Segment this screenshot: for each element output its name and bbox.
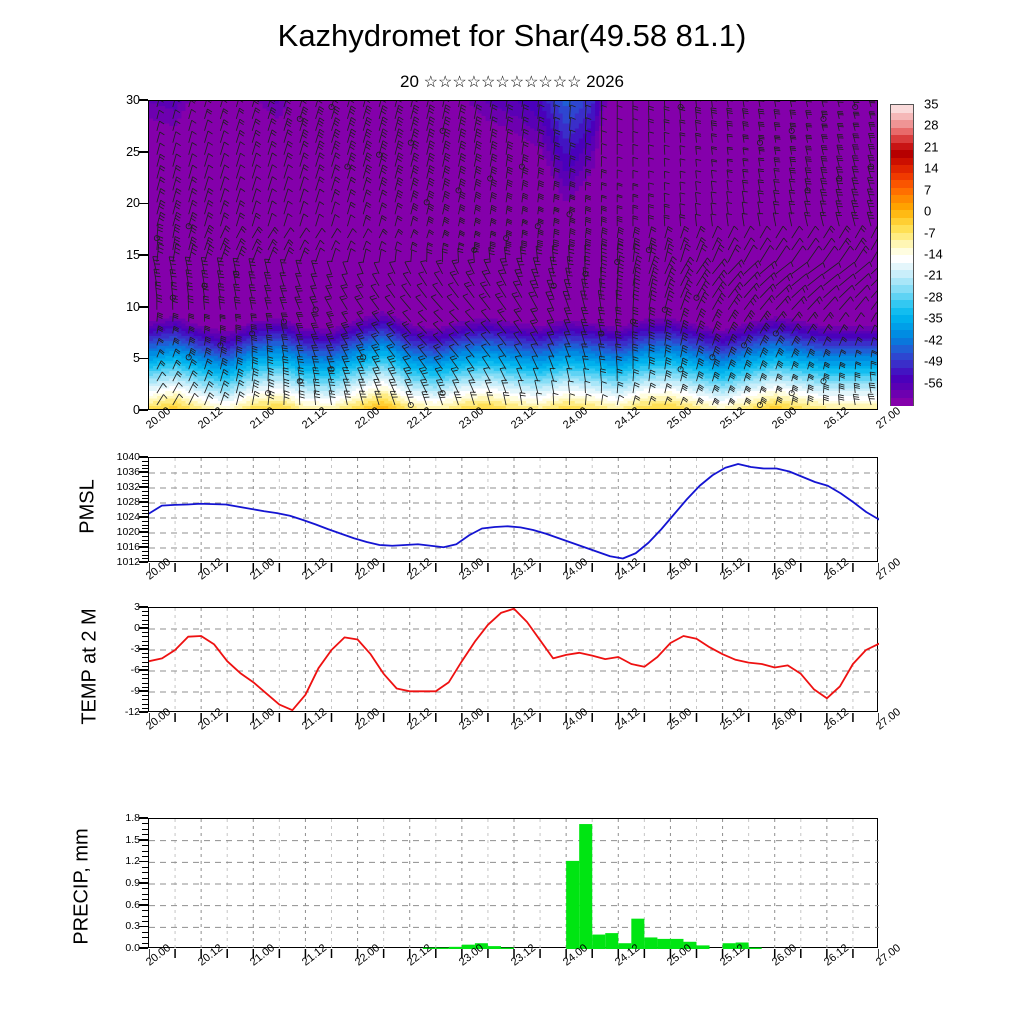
contour-cell [279, 409, 284, 411]
contour-cell [303, 409, 308, 411]
contour-cell [283, 409, 288, 411]
date-subtitle: 20 ☆☆☆☆☆☆☆☆☆☆☆ 2026 [0, 72, 1024, 92]
contour-cell [153, 409, 158, 411]
contour-cell [186, 409, 191, 411]
contour-cell [234, 409, 239, 411]
contour-cell [238, 409, 243, 411]
date-day: 20 [400, 72, 419, 91]
contour-cell [299, 409, 304, 411]
contour-cell [181, 409, 186, 411]
contour-cell [291, 409, 296, 411]
contour-cell [230, 409, 235, 411]
contour-cell [226, 409, 231, 411]
contour-cell [275, 409, 280, 411]
contour-cell [222, 409, 227, 411]
contour-cell [295, 409, 300, 411]
contour-cell [149, 409, 154, 411]
contour-cell [246, 409, 251, 411]
contour-cell [173, 409, 178, 411]
contour-cell [177, 409, 182, 411]
forecast-page: Kazhydromet for Shar(49.58 81.1) 20 ☆☆☆☆… [0, 0, 1024, 1024]
month-glyphs: ☆☆☆☆☆☆☆☆☆☆☆ [424, 74, 582, 91]
page-title: Kazhydromet for Shar(49.58 81.1) [0, 18, 1024, 54]
contour-cell [202, 409, 207, 411]
contour-cell [254, 409, 259, 411]
contour-cell [190, 409, 195, 411]
contour-cell [307, 409, 312, 411]
contour-cell [250, 409, 255, 411]
temperature-wind-cross-section[interactable] [148, 100, 878, 410]
contour-cell [198, 409, 203, 411]
date-year: 2026 [586, 72, 624, 91]
cross-section-canvas [149, 101, 878, 410]
contour-cell [242, 409, 247, 411]
contour-cell [194, 409, 199, 411]
contour-cell [287, 409, 292, 411]
